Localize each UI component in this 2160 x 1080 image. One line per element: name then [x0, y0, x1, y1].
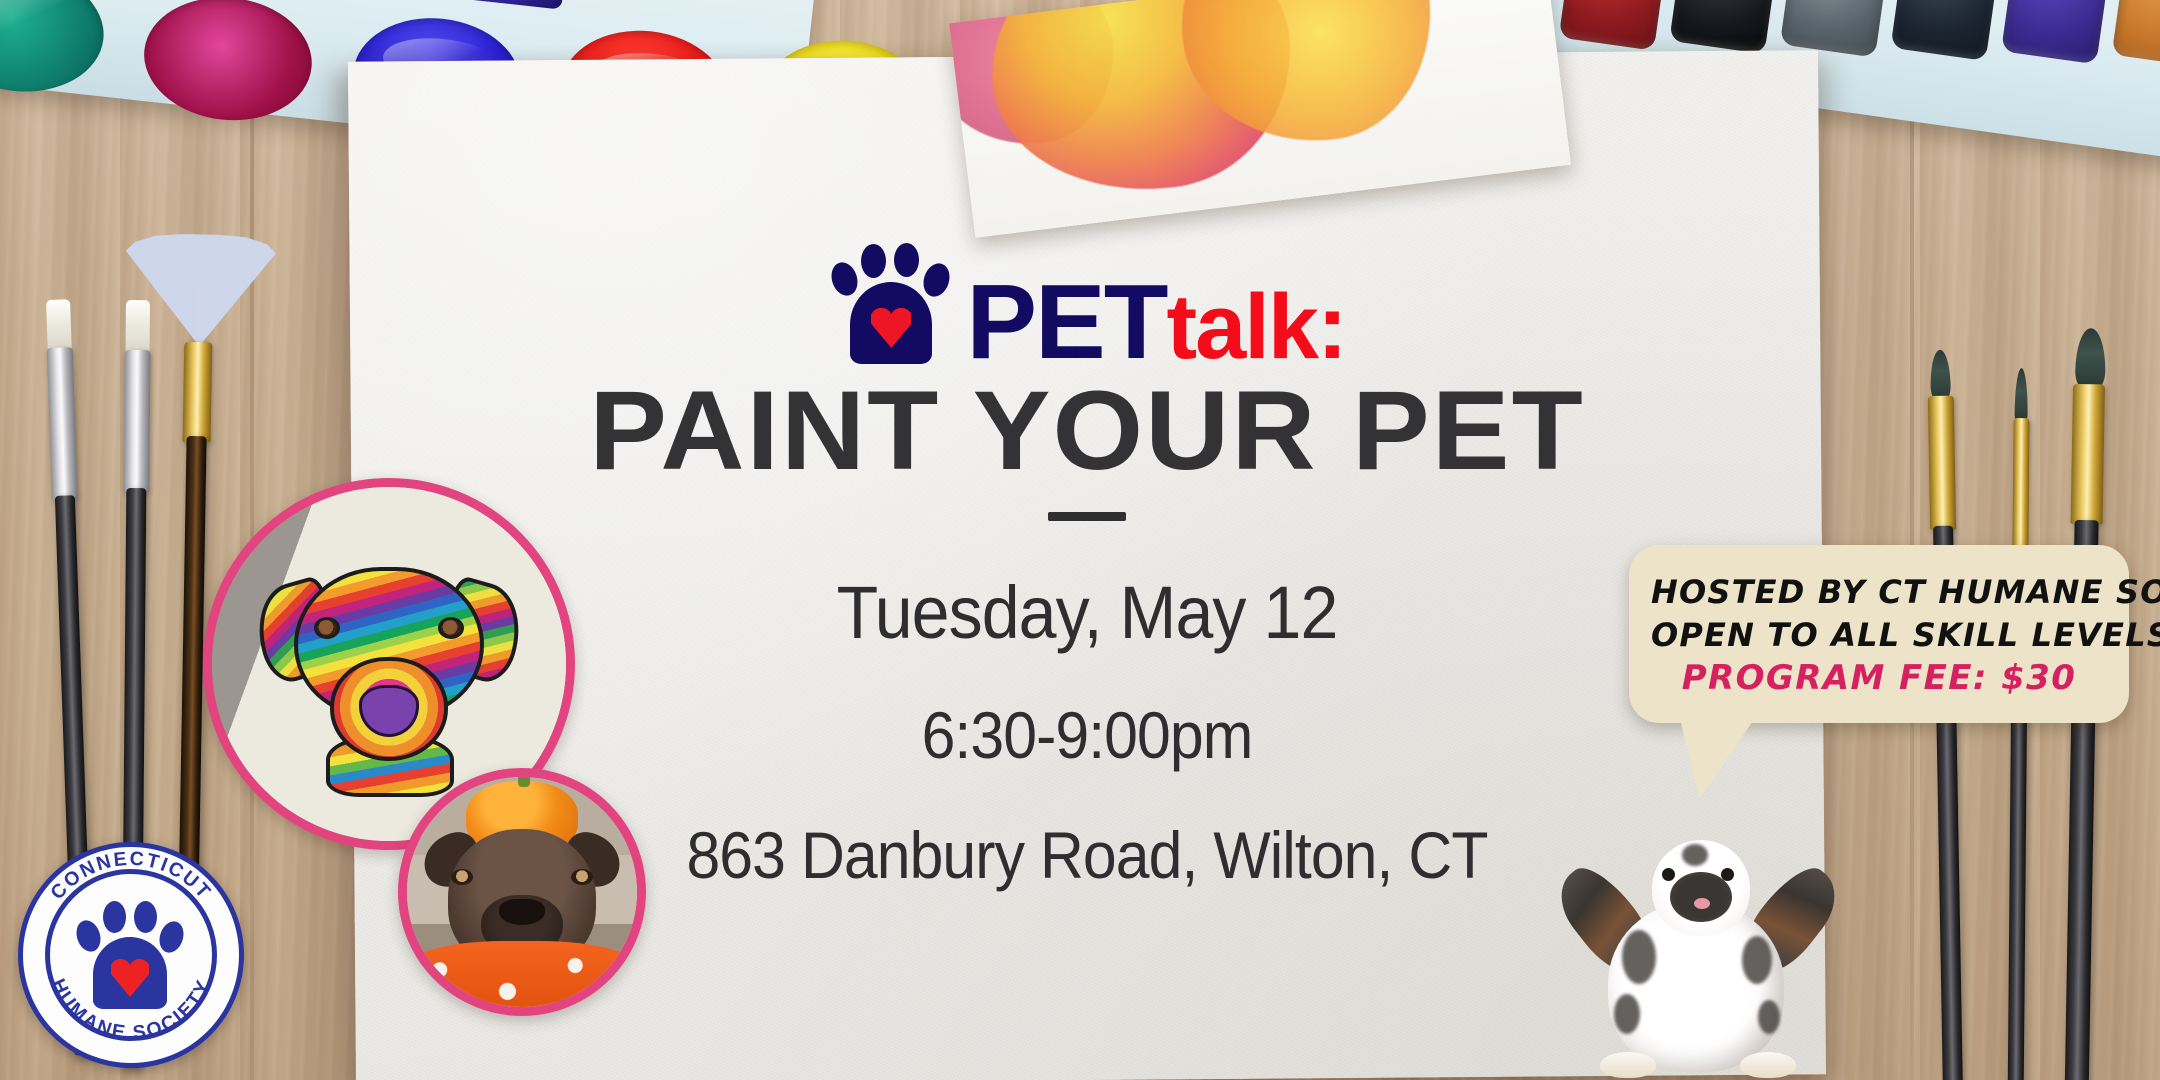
brand-talk-label: talk: — [1166, 276, 1345, 378]
event-date: Tuesday, May 12 — [411, 576, 1763, 650]
brush-bristles — [46, 299, 72, 354]
paint-pan-orange — [2112, 0, 2160, 68]
rabbit-spot — [1758, 1000, 1780, 1034]
seal-paw-heart-icon — [75, 901, 187, 1009]
flyer-canvas: PETtalk: PAINT YOUR PET Tuesday, May 12 … — [0, 0, 2160, 1080]
dog-eye-left — [314, 617, 340, 639]
rabbit-spot — [1742, 936, 1772, 984]
paw-heart-icon — [828, 242, 956, 366]
rabbit-head-spot — [1682, 844, 1708, 866]
brush-ferrule — [47, 347, 78, 500]
seal-paw-toe — [156, 918, 188, 956]
paint-well-violet — [412, 0, 571, 10]
rabbit-eye-left — [1662, 868, 1675, 881]
lop-rabbit-photo — [1548, 806, 1848, 1080]
brindle-dog-photo — [398, 768, 646, 1016]
brand-pet-text: PETtalk: — [966, 274, 1345, 372]
wood-seam — [1910, 0, 1914, 1080]
rainbow-dog-drawing — [264, 539, 514, 789]
brand-lockup: PETtalk: — [352, 242, 1822, 372]
brand-pet-label: PET — [966, 263, 1166, 381]
dog-nose — [499, 899, 545, 925]
seal-paw-toe — [134, 901, 157, 933]
paint-pan-slate — [1890, 0, 2002, 61]
rabbit-spot — [1622, 930, 1656, 984]
paint-pan-red — [1559, 0, 1671, 51]
seal-paw-toe — [73, 917, 105, 955]
bubble-line-fee: PROGRAM FEE: $30 — [1651, 656, 2107, 701]
paw-toe — [894, 243, 919, 277]
paw-toe — [861, 244, 886, 278]
dog-eye-right — [438, 617, 464, 639]
brush-ferrule — [123, 350, 150, 492]
rabbit-nose — [1694, 898, 1710, 909]
paint-pan-black — [1669, 0, 1781, 54]
bubble-line-skill: OPEN TO ALL SKILL LEVELS — [1651, 614, 2107, 657]
seal-paw-toe — [103, 901, 126, 933]
brush-ferrule-gold — [2012, 418, 2029, 556]
divider — [1048, 512, 1126, 521]
bubble-line-host: HOSTED BY CT HUMANE SOCIETY — [1651, 571, 2107, 614]
page-title-text: PAINT YOUR PET — [589, 366, 1585, 495]
page-title: PAINT YOUR PET — [323, 366, 1852, 495]
seal-top-text: CONNECTICUT — [46, 848, 216, 904]
rabbit-spot — [1614, 994, 1640, 1034]
brush-bristles — [126, 300, 150, 356]
dog-eye-left — [451, 869, 473, 885]
paw-toe — [828, 259, 862, 299]
dog-photo-content — [407, 777, 637, 1007]
dog-eye-right — [571, 869, 593, 885]
paint-pan-gray — [1780, 0, 1892, 58]
paw-toe — [920, 260, 954, 300]
rabbit-foot-right — [1740, 1052, 1796, 1078]
rabbit-foot-left — [1600, 1052, 1656, 1078]
brush-ferrule-gold — [1928, 396, 1956, 530]
brush-ferrule-gold — [183, 342, 213, 442]
dog-bandana — [401, 941, 643, 1013]
ct-humane-society-logo: CONNECTICUT HUMANE SOCIETY — [18, 842, 244, 1068]
info-speech-bubble: HOSTED BY CT HUMANE SOCIETY OPEN TO ALL … — [1629, 545, 2129, 723]
brush-ferrule-gold — [2071, 384, 2105, 525]
rabbit-eye-right — [1721, 868, 1734, 881]
event-time: 6:30-9:00pm — [411, 702, 1763, 768]
paint-pan-purple — [2001, 0, 2113, 64]
